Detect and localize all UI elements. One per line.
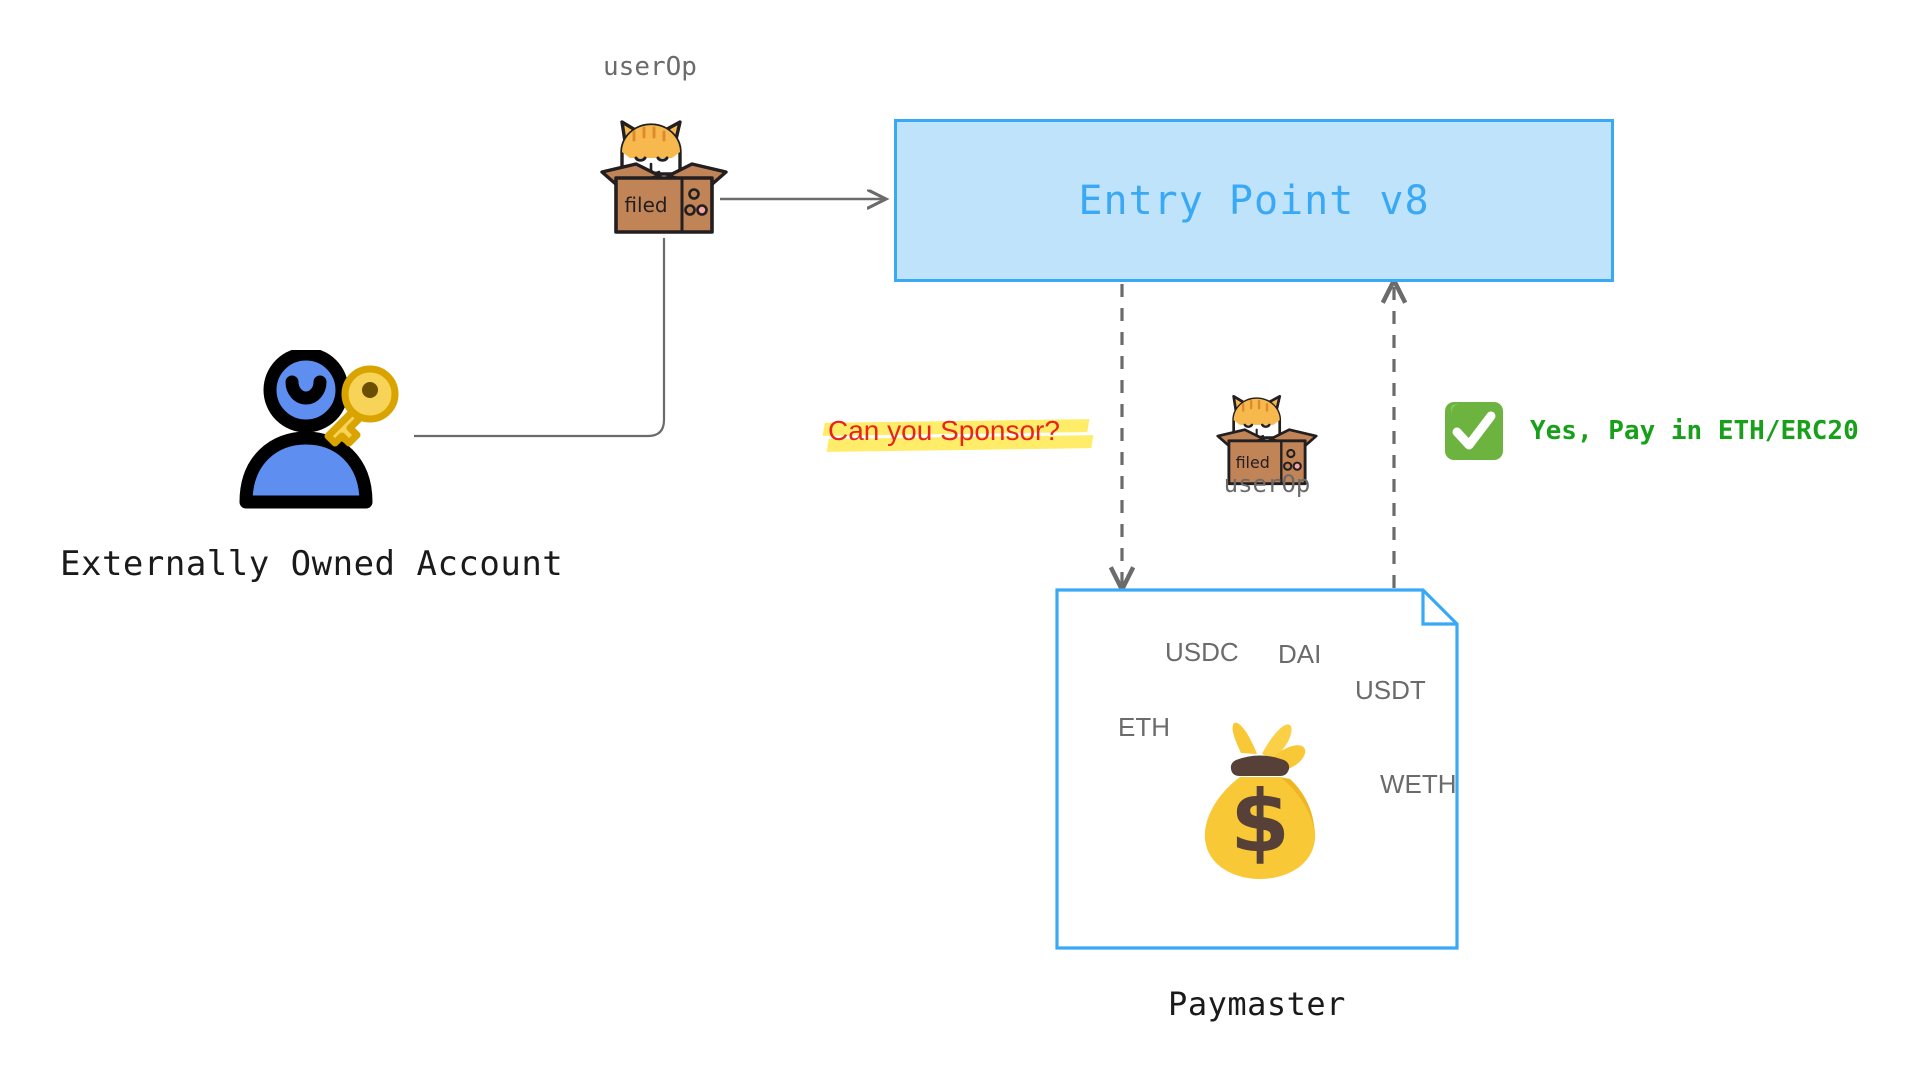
money-bag-icon: $ (1178, 719, 1343, 884)
eoa-caption: Externally Owned Account (60, 544, 563, 584)
svg-text:$: $ (1230, 772, 1290, 872)
sponsor-answer-label: Yes, Pay in ETH/ERC20 (1530, 416, 1859, 446)
cat-in-box-icon: filed (596, 112, 732, 237)
svg-text:filed: filed (1236, 453, 1270, 472)
svg-text:filed: filed (624, 193, 667, 217)
paymaster-caption: Paymaster (1055, 985, 1459, 1023)
connector-eoa-to-userop (414, 238, 664, 436)
userop-mid-label: userOp (1177, 470, 1357, 498)
entry-point-label: Entry Point v8 (1078, 178, 1429, 224)
person-with-key-icon (238, 350, 448, 510)
token-label-eth: ETH (1118, 712, 1170, 743)
token-label-dai: DAI (1278, 639, 1321, 670)
userop-top-label: userOp (560, 52, 740, 82)
sponsor-question-label: Can you Sponsor? (828, 415, 1060, 447)
white-check-mark-icon (1443, 400, 1505, 462)
token-label-usdc: USDC (1165, 637, 1239, 668)
token-label-weth: WETH (1380, 769, 1457, 800)
entry-point-node[interactable]: Entry Point v8 (894, 119, 1614, 282)
token-label-usdt: USDT (1355, 675, 1426, 706)
